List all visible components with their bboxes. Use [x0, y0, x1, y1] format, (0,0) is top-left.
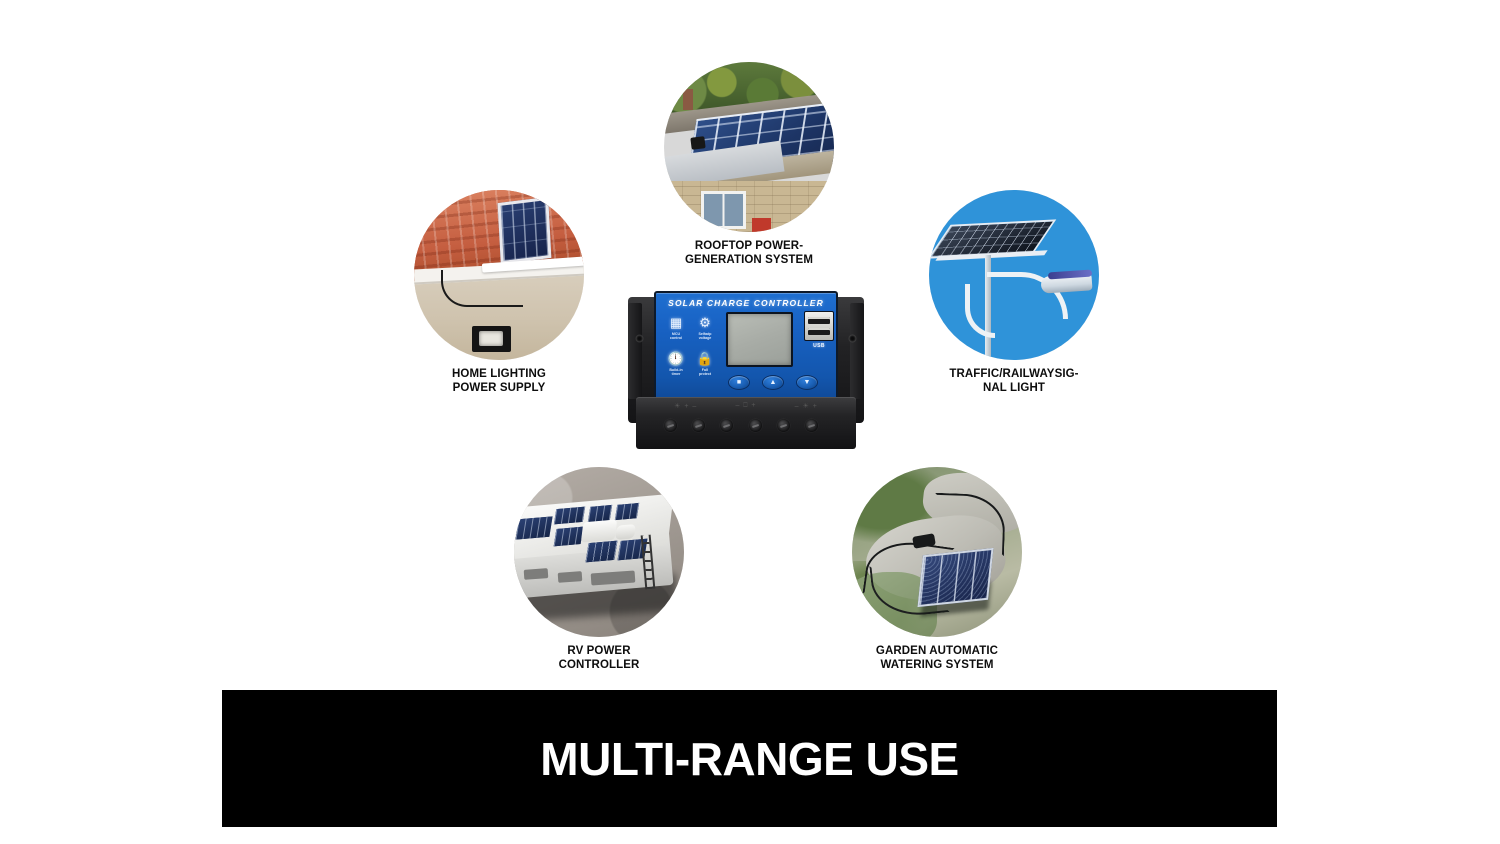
usb-port-icon[interactable] [808, 328, 830, 335]
controller-title: SOLAR CHARGE CONTROLLER [656, 298, 836, 308]
usb-label: USB [804, 343, 834, 349]
menu-button[interactable]: ■ [728, 375, 750, 390]
mounting-tab-right [850, 303, 864, 399]
floodlight-icon [472, 326, 511, 352]
mounting-tab-left [628, 303, 642, 399]
terminal-markings: ☀ + – – ⎕ + – ☀ + [636, 402, 856, 410]
gear-icon: ⚙ [695, 313, 715, 331]
terminal-mark-battery: – ⎕ + [735, 402, 756, 410]
terminal-screw[interactable] [749, 419, 762, 432]
terminal-block: ☀ + – – ⎕ + – ☀ + [636, 397, 856, 449]
usb-port-block[interactable]: USB [804, 311, 834, 349]
solar-panel-icon [554, 506, 585, 524]
terminal-screw[interactable] [777, 419, 790, 432]
feature-mcu-control: ▦ MCU control [663, 313, 689, 346]
clock-icon: 🕛 [666, 349, 686, 367]
mounting-hole [849, 335, 856, 342]
feature-caption: Full protect [699, 368, 711, 377]
chimney [683, 89, 693, 109]
red-door-awning [752, 218, 771, 232]
floodlight-lens [479, 331, 503, 346]
feature-selfadp-voltage: ⚙ Selfadp voltage [692, 313, 718, 346]
window [701, 191, 745, 228]
roof-vent [615, 524, 635, 539]
controller-front-panel: SOLAR CHARGE CONTROLLER ▦ MCU control ⚙ … [654, 291, 838, 407]
brick-wall [664, 181, 834, 232]
terminal-screw[interactable] [692, 419, 705, 432]
application-node-traffic-signal: TRAFFIC/RAILWAYSIG- NAL LIGHT [929, 190, 1099, 395]
application-node-home-lighting: HOME LIGHTING POWER SUPPLY [414, 190, 584, 395]
solar-panel-icon [615, 503, 639, 520]
rv-power-image [514, 467, 684, 637]
application-node-rooftop-power: ROOFTOP POWER- GENERATION SYSTEM [664, 62, 834, 267]
traffic-signal-label: TRAFFIC/RAILWAYSIG- NAL LIGHT [929, 367, 1099, 395]
mounting-hole [636, 335, 643, 342]
solar-panel-icon [917, 548, 993, 607]
banner-title: MULTI-RANGE USE [540, 732, 958, 786]
garden-watering-label: GARDEN AUTOMATIC WATERING SYSTEM [852, 644, 1022, 672]
solar-charge-controller-device: SOLAR CHARGE CONTROLLER ▦ MCU control ⚙ … [628, 291, 864, 451]
lcd-display [726, 312, 793, 367]
terminal-screw[interactable] [720, 419, 733, 432]
rv-power-label: RV POWER CONTROLLER [514, 644, 684, 672]
solar-panel-icon [516, 516, 553, 540]
solar-panel-icon [553, 527, 583, 547]
application-node-rv-power: RV POWER CONTROLLER [514, 467, 684, 672]
lock-icon: 🔒 [695, 349, 715, 367]
wall-vent [691, 136, 706, 149]
feature-full-protect: 🔒 Full protect [692, 349, 718, 382]
terminal-screw[interactable] [805, 419, 818, 432]
usb-port-shell[interactable] [804, 311, 834, 341]
chip-icon: ▦ [666, 313, 686, 331]
feature-caption: Build-in timer [669, 368, 682, 377]
home-lighting-label: HOME LIGHTING POWER SUPPLY [414, 367, 584, 395]
feature-build-in-timer: 🕛 Build-in timer [663, 349, 689, 382]
terminal-screw-row [664, 419, 818, 432]
feature-caption: Selfadp voltage [699, 332, 712, 341]
cable-icon [441, 270, 523, 307]
terminal-screw[interactable] [664, 419, 677, 432]
terminal-mark-load: – ☀ + [795, 402, 818, 410]
up-button[interactable]: ▲ [762, 375, 784, 390]
terminal-mark-solar: ☀ + – [674, 402, 697, 410]
solar-panel-icon [586, 540, 618, 562]
infographic-canvas: HOME LIGHTING POWER SUPPLY ROOFTOP POWER… [0, 0, 1500, 844]
solar-panel-icon [498, 197, 552, 264]
garden-watering-image [852, 467, 1022, 637]
application-node-garden-watering: GARDEN AUTOMATIC WATERING SYSTEM [852, 467, 1022, 672]
usb-port-icon[interactable] [808, 317, 830, 324]
storage-bay [524, 568, 548, 580]
home-lighting-image [414, 190, 584, 360]
rooftop-power-image [664, 62, 834, 232]
feature-caption: MCU control [670, 332, 682, 341]
bottom-banner: MULTI-RANGE USE [222, 690, 1277, 827]
traffic-signal-image [929, 190, 1099, 360]
down-button[interactable]: ▼ [796, 375, 818, 390]
rooftop-power-label: ROOFTOP POWER- GENERATION SYSTEM [664, 239, 834, 267]
